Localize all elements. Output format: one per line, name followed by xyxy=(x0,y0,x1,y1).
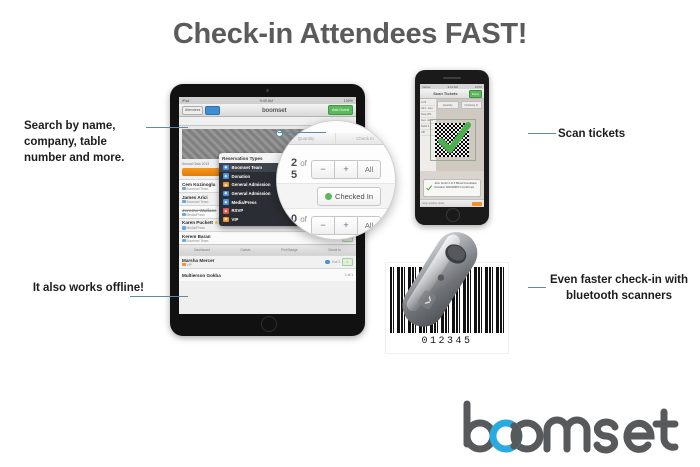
ticket-icon: ◉ xyxy=(223,217,229,223)
attendee-type-label: Media/Press xyxy=(187,226,205,230)
attendee-type: Media/Press xyxy=(182,213,217,217)
ticket-icon: ◉ xyxy=(223,182,229,188)
table-row[interactable]: Multierson Gokba 1 of 1 xyxy=(179,268,356,281)
lens-quantity-second: 0 of 2 xyxy=(291,213,312,237)
attendee-type: Boomset Team xyxy=(182,187,215,191)
attendee-name: Multierson Gokba xyxy=(182,273,221,278)
add-guest-button[interactable]: Add Guest xyxy=(328,105,353,115)
check-icon xyxy=(437,122,471,156)
qr-scan-frame xyxy=(430,119,476,161)
attendee-count: 1 of 1 xyxy=(345,273,353,277)
callout-bluetooth: Even faster check-in with bluetooth scan… xyxy=(548,272,690,304)
reservation-type-label: VIP xyxy=(232,217,239,222)
type-tag-icon xyxy=(182,187,186,191)
type-tag-icon xyxy=(182,226,186,230)
check-icon xyxy=(426,182,432,194)
note-bubble-icon[interactable] xyxy=(325,260,330,264)
check-circle-icon xyxy=(325,193,332,200)
attendee-type: Boomset Team xyxy=(182,239,211,243)
lens-q2-current: 0 xyxy=(291,213,297,225)
status-battery: 100% xyxy=(344,99,353,103)
lens-row-second: 0 of 2 − + All xyxy=(277,213,395,237)
iphone-screen: Carrier 9:41 AM 100% Scan Tickets Done A… xyxy=(420,84,484,207)
page-title: Check-in Attendees FAST! xyxy=(0,18,700,51)
connector-line-scan xyxy=(528,133,556,134)
scan-again-label[interactable]: Scan another ticket xyxy=(422,202,444,205)
footer-item-check-in[interactable]: Check In xyxy=(328,248,341,252)
attendee-type: Media/Press xyxy=(182,226,218,230)
reservation-type-label: General Admission xyxy=(232,182,271,187)
done-button[interactable]: Done xyxy=(469,90,482,98)
attendee-type-label: VIP xyxy=(187,263,192,267)
bluetooth-barcode-scanner xyxy=(395,228,513,346)
toolbar-left-group: Attendees xyxy=(182,106,220,115)
iphone-status-bar: Carrier 9:41 AM 100% xyxy=(420,84,484,89)
attendee-name-text: Karen Puckett xyxy=(182,220,213,225)
status-badge xyxy=(472,202,482,206)
scan-confirmation-card: John Smith 2 of 5 Blood Foundation Donat… xyxy=(423,179,481,197)
poster-canvas: Check-in Attendees FAST! iPad 9:45 AM 10… xyxy=(0,0,700,467)
connector-line-search xyxy=(146,127,188,128)
attendee-type: Boomset Team xyxy=(182,200,208,204)
ticket-icon: ◉ xyxy=(223,191,229,197)
reservation-type-label: RSVP xyxy=(232,208,244,213)
boomset-logo xyxy=(459,398,684,454)
callout-scan: Scan tickets xyxy=(558,126,688,142)
tab-checking-in[interactable]: Checking In xyxy=(461,101,483,109)
row-actions: 1 of 1 xyxy=(345,273,353,277)
lens-col-checkin: Check In xyxy=(336,133,395,144)
lens-stepper-second: − + All xyxy=(312,216,381,235)
type-tag-icon xyxy=(182,213,186,217)
plus-button[interactable]: + xyxy=(334,216,358,235)
attendee-type: VIP xyxy=(182,263,214,267)
confirmation-text: John Smith 2 of 5 Blood Foundation Donat… xyxy=(434,182,478,194)
reservation-type-label: Media/Press xyxy=(232,200,257,205)
minus-button[interactable]: − xyxy=(311,160,335,179)
iphone-status-battery: 100% xyxy=(475,85,482,89)
ipad-camera-icon xyxy=(266,89,269,92)
connector-line-bluetooth xyxy=(528,287,546,288)
status-time: 9:45 AM xyxy=(260,99,273,103)
lens-q2-total: 2 xyxy=(291,225,297,237)
minus-button[interactable]: − xyxy=(311,216,335,235)
filter-icon[interactable] xyxy=(205,106,220,115)
footer-item-dashboard[interactable]: Dashboard xyxy=(194,248,210,252)
lens-checkedin-row: Checked In xyxy=(277,183,395,209)
all-button[interactable]: All xyxy=(357,216,381,235)
iphone-device: Carrier 9:41 AM 100% Scan Tickets Done A… xyxy=(415,70,489,225)
reservation-type-label: Donation xyxy=(232,174,251,179)
lens-q2-of: of xyxy=(300,215,307,224)
popover-title: Reservation Types xyxy=(222,156,263,161)
connector-line-offline xyxy=(130,296,188,297)
iphone-nav-title: Scan Tickets xyxy=(422,91,469,96)
type-tag-icon xyxy=(182,200,186,204)
footer-item-guests[interactable]: Guests xyxy=(240,248,250,252)
menu-chip[interactable]: Attendees xyxy=(182,106,203,115)
footer-item-print-badge[interactable]: Print Badge xyxy=(281,248,298,252)
attendee-type-label: Boomset Team xyxy=(187,187,209,191)
ipad-brand-title: boomset xyxy=(262,107,286,114)
lens-stepper-first: − + All xyxy=(312,160,381,179)
reservation-type-label: General Admission xyxy=(232,191,271,196)
vip-star-icon: ★ xyxy=(214,220,218,225)
callout-search: Search by name, company, table number an… xyxy=(24,118,144,166)
type-tag-icon xyxy=(182,263,186,267)
tab-quantity[interactable]: Quantity xyxy=(437,101,459,109)
magnifier-lens: Quantity Check In 2 of 5 − + All Checked… xyxy=(276,120,396,240)
scanner-camera-view[interactable]: A 29 Adm. Gen. Seat 201 Gen. Adm. Table … xyxy=(420,99,484,171)
type-tag-icon xyxy=(182,239,186,243)
attendee-type-label: Boomset Team xyxy=(187,200,209,204)
table-row[interactable]: Marsha Mercer VIP 0 of 1 ✓ xyxy=(179,255,356,268)
attendee-count: 0 of 1 xyxy=(332,260,340,264)
row-checkin-button[interactable]: ✓ xyxy=(342,258,353,266)
lens-row-first: 2 of 5 − + All xyxy=(277,157,395,181)
lens-quantity-first: 2 of 5 xyxy=(291,157,312,181)
lens-column-headers: Quantity Check In xyxy=(277,133,395,145)
lens-connector-line xyxy=(278,132,326,133)
ticket-icon: ◉ xyxy=(223,199,229,205)
status-carrier: iPad xyxy=(182,99,189,103)
checked-in-label: Checked In xyxy=(335,192,373,201)
scanner-tabs: Quantity Checking In xyxy=(437,101,482,109)
lens-q1-of: of xyxy=(300,159,307,168)
ticket-icon: ◉ xyxy=(223,208,229,214)
reservation-type-label: Boomset Team xyxy=(232,165,262,170)
iphone-home-button[interactable] xyxy=(446,208,460,222)
ipad-home-button[interactable] xyxy=(261,316,277,332)
checked-in-button[interactable]: Checked In xyxy=(317,187,381,206)
lens-q1-current: 2 xyxy=(291,157,297,169)
lens-col-quantity: Quantity xyxy=(277,133,336,144)
lens-q1-total: 5 xyxy=(291,169,297,181)
ipad-toolbar: Attendees boomset Add Guest xyxy=(179,104,356,117)
attendee-type-label: Media/Press xyxy=(187,213,205,217)
iphone-bottom-bar: Scan another ticket xyxy=(420,199,484,207)
callout-offline: It also works offline! xyxy=(22,280,144,296)
iphone-status-carrier: Carrier xyxy=(422,85,431,89)
plus-button[interactable]: + xyxy=(334,160,358,179)
ipad-status-bar: iPad 9:45 AM 100% xyxy=(179,97,356,104)
ipad-footer-toolbar: Dashboard Guests Print Badge Check In xyxy=(179,244,356,255)
all-button[interactable]: All xyxy=(357,160,381,179)
ticket-icon: ◉ xyxy=(223,173,229,179)
ticket-icon: ◉ xyxy=(223,165,229,171)
attendee-type-label: Boomset Team xyxy=(187,239,209,243)
iphone-speaker-icon xyxy=(443,77,461,79)
iphone-nav-bar: Scan Tickets Done xyxy=(420,89,484,99)
iphone-status-time: 9:41 AM xyxy=(448,85,458,89)
row-actions: 0 of 1 ✓ xyxy=(325,258,353,266)
